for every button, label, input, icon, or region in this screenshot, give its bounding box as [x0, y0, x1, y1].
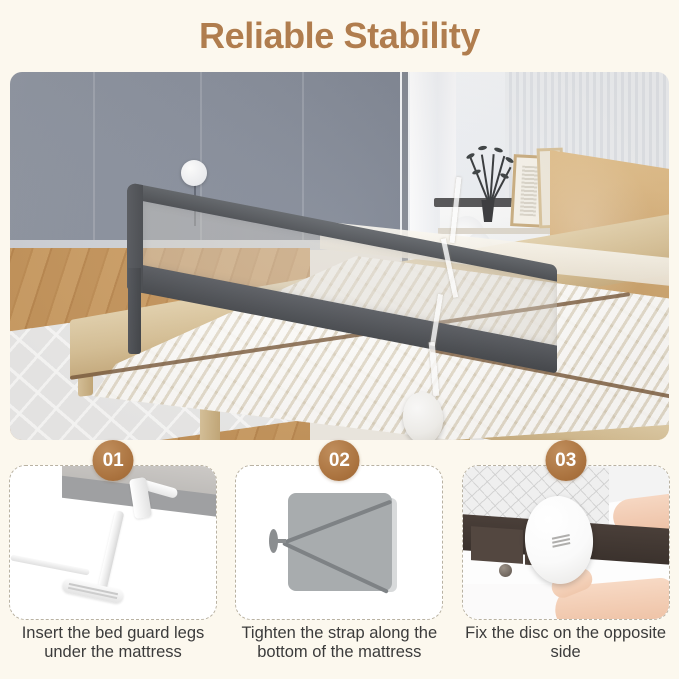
- guard-rail-lower-bar: [10, 554, 90, 575]
- step-illustration-02: [235, 465, 443, 620]
- step-card-03: 03 Fix the disc on the opposi: [453, 440, 679, 679]
- bed-frame-inner-panel: [471, 526, 523, 564]
- step-card-02: 02 Tighten the strap along the bottom of…: [226, 440, 452, 679]
- step-badge-01: 01: [93, 440, 134, 481]
- step-caption-01: Insert the bed guard legs under the matt…: [5, 624, 221, 662]
- page-title: Reliable Stability: [199, 15, 480, 57]
- wardrobe-seam: [93, 72, 95, 250]
- plant-stems: [460, 144, 518, 206]
- wall-clock-icon: [181, 160, 207, 186]
- steps-row: 01 Insert the bed guard legs under the m…: [0, 440, 679, 679]
- step-illustration-01: [9, 465, 217, 620]
- step-illustration-03: [462, 465, 670, 620]
- step-caption-03: Fix the disc on the opposite side: [458, 624, 674, 662]
- page-header: Reliable Stability: [0, 0, 679, 72]
- photo-background: [463, 466, 669, 619]
- step-badge-02: 02: [319, 440, 360, 481]
- frame-knob: [499, 564, 512, 577]
- guard-leg: [97, 510, 125, 595]
- anchor-disc: [269, 529, 278, 553]
- step-card-01: 01 Insert the bed guard legs under the m…: [0, 440, 226, 679]
- guard-foot-plate: [61, 578, 125, 605]
- disc-slot-lines: [551, 535, 570, 546]
- guard-rail-post: [128, 268, 141, 354]
- step-caption-02: Tighten the strap along the bottom of th…: [231, 624, 447, 662]
- step-badge-03: 03: [545, 440, 586, 481]
- hero-image: [10, 72, 669, 440]
